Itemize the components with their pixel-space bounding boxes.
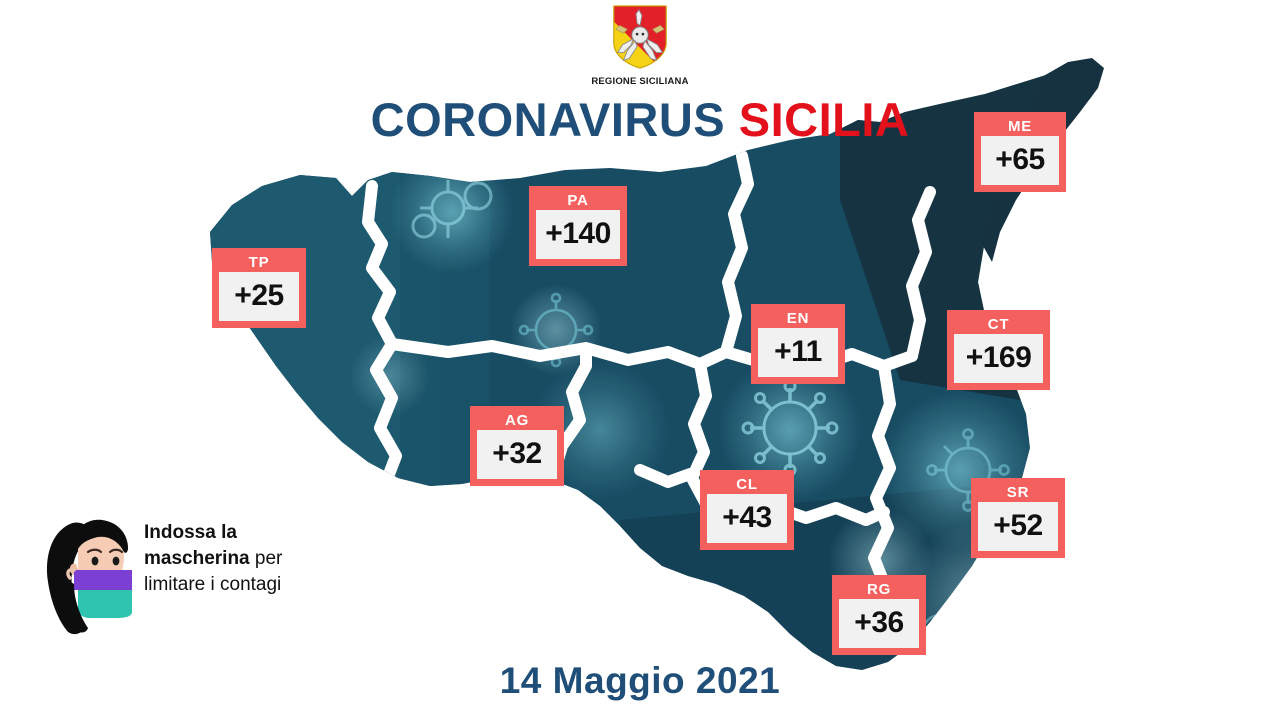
province-code-cl: CL	[707, 475, 787, 494]
province-box-en[interactable]: EN +11	[751, 304, 845, 384]
province-value-rg: +36	[839, 599, 919, 648]
mask-line-1: Indossa la	[144, 522, 237, 543]
title-word-sicilia: SICILIA	[739, 93, 910, 146]
province-value-cl: +43	[707, 494, 787, 543]
province-value-me: +65	[981, 136, 1059, 185]
province-value-pa: +140	[536, 210, 620, 259]
title-word-coronavirus: CORONAVIRUS	[371, 93, 726, 146]
province-box-ag[interactable]: AG +32	[470, 406, 564, 486]
person-wearing-mask-icon	[40, 508, 140, 636]
mask-line-2-regular: per	[250, 548, 283, 569]
province-value-ct: +169	[954, 334, 1043, 383]
province-box-pa[interactable]: PA +140	[529, 186, 627, 266]
province-code-tp: TP	[219, 253, 299, 272]
province-code-ag: AG	[477, 411, 557, 430]
province-code-pa: PA	[536, 191, 620, 210]
province-code-ct: CT	[954, 315, 1043, 334]
province-box-sr[interactable]: SR +52	[971, 478, 1065, 558]
province-value-tp: +25	[219, 272, 299, 321]
province-value-en: +11	[758, 328, 838, 377]
province-code-rg: RG	[839, 580, 919, 599]
mask-notice-text: Indossa la mascherina per limitare i con…	[144, 520, 369, 598]
province-box-me[interactable]: ME +65	[974, 112, 1066, 192]
province-box-rg[interactable]: RG +36	[832, 575, 926, 655]
province-value-sr: +52	[978, 502, 1058, 551]
mask-line-2-bold: mascherina	[144, 548, 250, 569]
coronavirus-sicilia-infographic: REGIONE SICILIANA CORONAVIRUS SICILIA TP…	[0, 0, 1280, 720]
province-code-me: ME	[981, 117, 1059, 136]
mask-line-3: limitare i contagi	[144, 574, 281, 595]
province-value-ag: +32	[477, 430, 557, 479]
province-box-tp[interactable]: TP +25	[212, 248, 306, 328]
date-label: 14 Maggio 2021	[0, 660, 1280, 702]
province-code-sr: SR	[978, 483, 1058, 502]
province-box-ct[interactable]: CT +169	[947, 310, 1050, 390]
page-title: CORONAVIRUS SICILIA	[0, 92, 1280, 147]
province-box-cl[interactable]: CL +43	[700, 470, 794, 550]
mask-notice: Indossa la mascherina per limitare i con…	[40, 508, 370, 638]
province-code-en: EN	[758, 309, 838, 328]
